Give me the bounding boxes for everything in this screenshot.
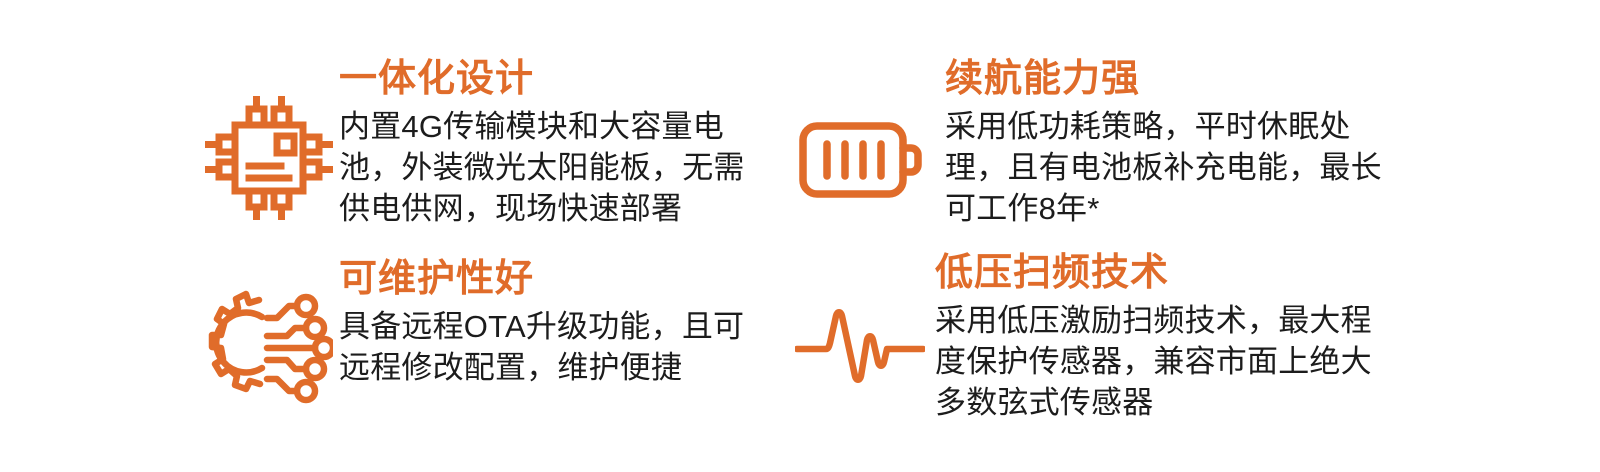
feature-text-block: 续航能力强 采用低功耗策略，平时休眠处理，且有电池板补充电能，最长可工作8年* <box>945 58 1395 229</box>
feature-title: 续航能力强 <box>945 58 1395 100</box>
gear-circuit-icon <box>205 290 333 405</box>
feature-description: 采用低功耗策略，平时休眠处理，且有电池板补充电能，最长可工作8年* <box>945 106 1395 229</box>
waveform-icon <box>795 300 925 390</box>
feature-text-block: 一体化设计 内置4G传输模块和大容量电池，外装微光太阳能板，无需供电供网，现场快… <box>339 58 765 229</box>
feature-description: 采用低压激励扫频技术，最大程度保护传感器，兼容市面上绝大多数弦式传感器 <box>935 300 1395 423</box>
feature-card-long-battery-life: 续航能力强 采用低功耗策略，平时休眠处理，且有电池板补充电能，最长可工作8年* <box>795 58 1395 229</box>
feature-text-block: 低压扫频技术 采用低压激励扫频技术，最大程度保护传感器，兼容市面上绝大多数弦式传… <box>935 252 1395 423</box>
feature-card-integrated-design: 一体化设计 内置4G传输模块和大容量电池，外装微光太阳能板，无需供电供网，现场快… <box>205 58 765 229</box>
chip-icon <box>205 96 333 220</box>
feature-description: 内置4G传输模块和大容量电池，外装微光太阳能板，无需供电供网，现场快速部署 <box>339 106 765 229</box>
feature-title: 低压扫频技术 <box>935 252 1395 294</box>
features-panel: 一体化设计 内置4G传输模块和大容量电池，外装微光太阳能板，无需供电供网，现场快… <box>0 0 1600 472</box>
feature-title: 可维护性好 <box>339 258 765 300</box>
battery-icon <box>795 110 945 210</box>
feature-card-maintainability: 可维护性好 具备远程OTA升级功能，且可远程修改配置，维护便捷 <box>205 258 765 405</box>
feature-description: 具备远程OTA升级功能，且可远程修改配置，维护便捷 <box>339 306 765 388</box>
feature-title: 一体化设计 <box>339 58 765 100</box>
feature-text-block: 可维护性好 具备远程OTA升级功能，且可远程修改配置，维护便捷 <box>339 258 765 388</box>
feature-card-low-voltage-sweep: 低压扫频技术 采用低压激励扫频技术，最大程度保护传感器，兼容市面上绝大多数弦式传… <box>795 252 1395 423</box>
